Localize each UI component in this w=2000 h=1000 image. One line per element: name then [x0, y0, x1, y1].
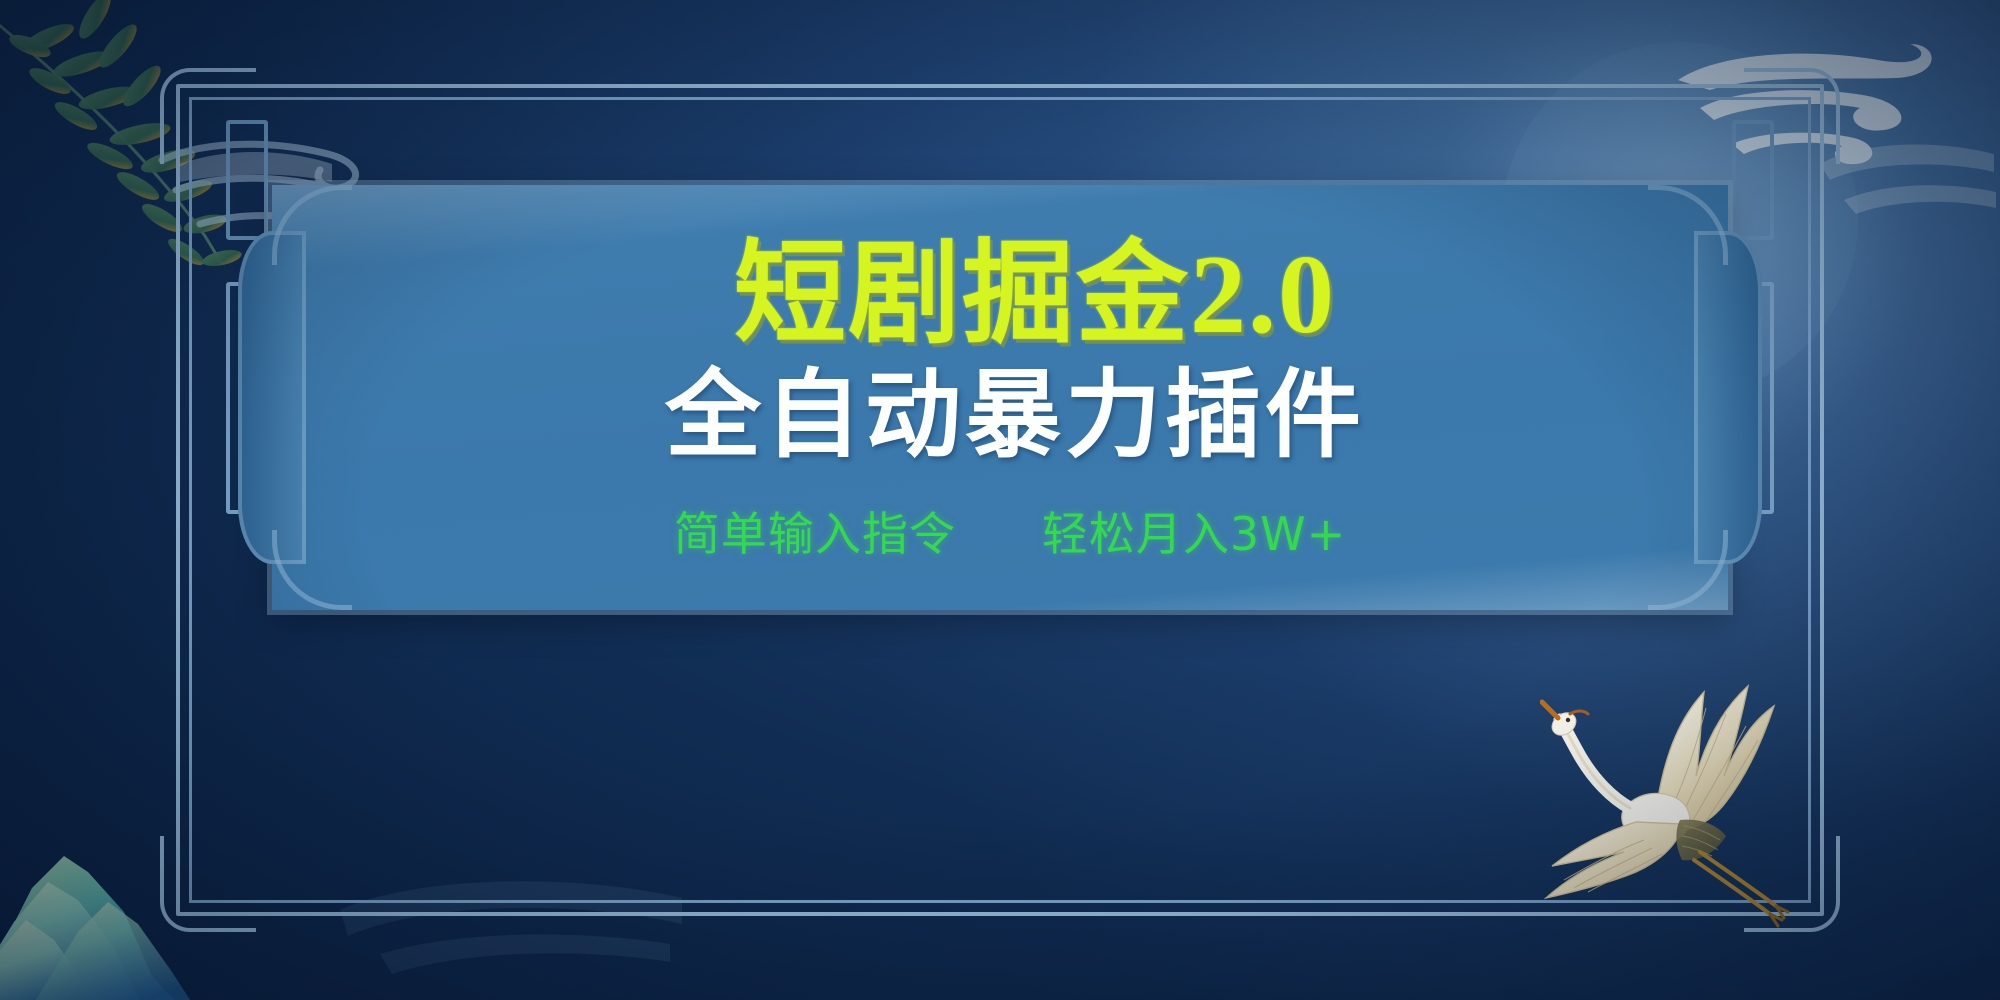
page-subtitle: 全自动暴力插件 — [665, 363, 1365, 469]
frame-corner-bottom-right — [1744, 836, 1840, 932]
headline-block: 短剧掘金2.0 全自动暴力插件 简单输入指令 轻松月入3W+ — [272, 185, 1728, 610]
frame-side-bar-left-upper — [226, 120, 268, 240]
tagline-right: 轻松月入3W+ — [1042, 498, 1346, 564]
tagline-left: 简单输入指令 — [674, 498, 956, 564]
frame-corner-bottom-left — [160, 836, 256, 932]
page-title: 短剧掘金2.0 — [734, 237, 1336, 355]
poster-canvas: 短剧掘金2.0 全自动暴力插件 简单输入指令 轻松月入3W+ — [0, 0, 2000, 1000]
tagline-row: 简单输入指令 轻松月入3W+ — [674, 498, 1346, 564]
frame-side-bar-right-upper — [1732, 120, 1774, 240]
